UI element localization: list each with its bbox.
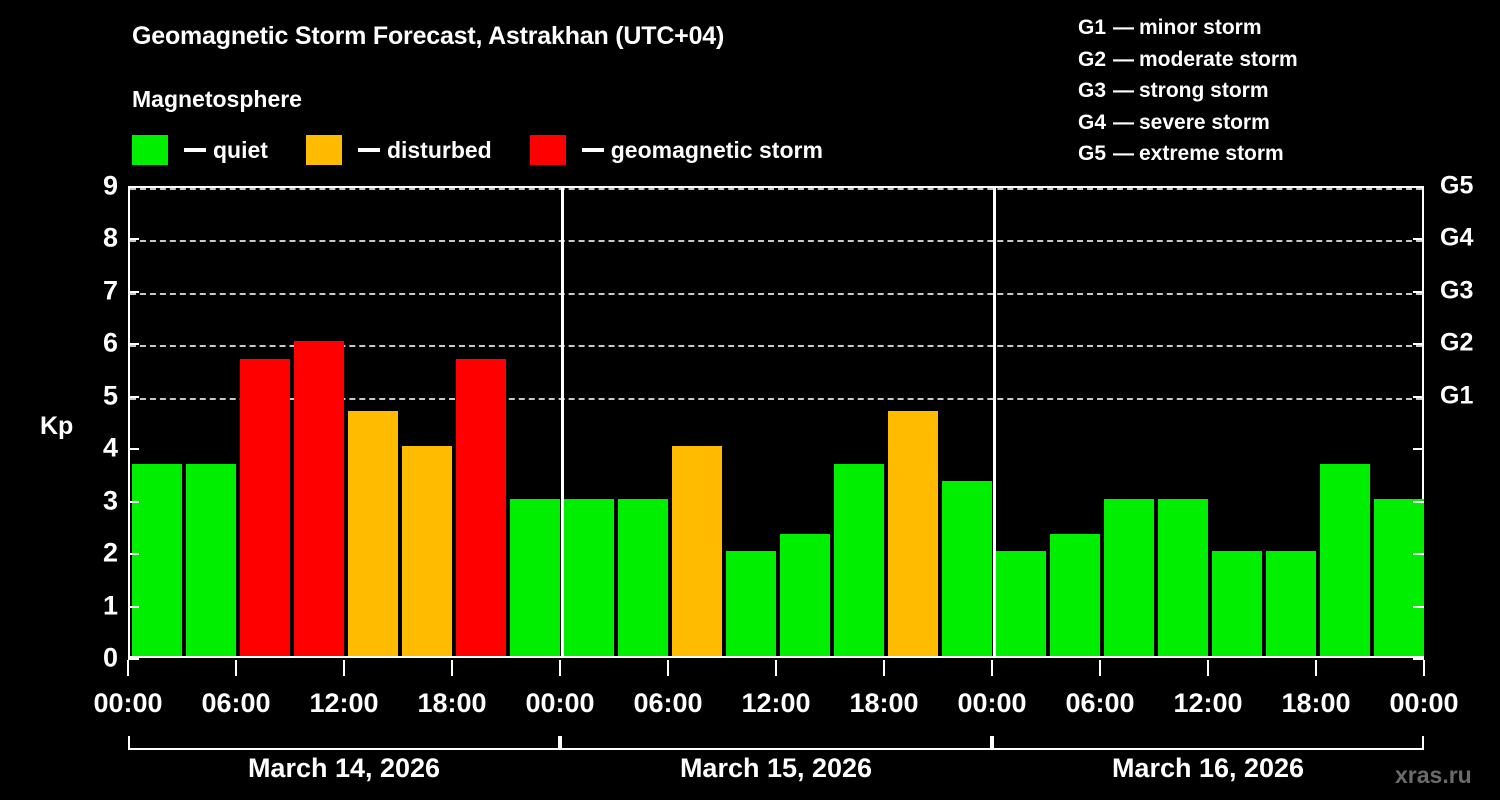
day-separator-2: [993, 188, 996, 656]
kp-bar: [348, 411, 398, 656]
gridline-kp-9: [130, 188, 1422, 190]
y-tick-label-7: 7: [103, 277, 118, 304]
y-tick-mark-5: [128, 396, 139, 398]
y-tick-label-6: 6: [103, 330, 118, 357]
g-axis-labels: G1G2G3G4G5: [1440, 186, 1500, 658]
y-tick-mark-2: [128, 553, 139, 555]
x-tick-mark-5: [667, 660, 669, 676]
x-tick-label-5: 06:00: [633, 688, 702, 719]
x-tick-label-0: 00:00: [93, 688, 162, 719]
g-legend-code: G1: [1078, 12, 1108, 44]
day-bracket-1: [128, 736, 560, 750]
kp-bar: [132, 464, 182, 656]
day-label-3: March 16, 2026: [1112, 753, 1304, 784]
legend-item-disturbed: disturbed: [306, 135, 492, 165]
legend-dash-icon: [184, 148, 206, 152]
gridline-kp-8: [130, 240, 1422, 242]
x-tick-mark-1: [235, 660, 237, 676]
y-tick-mark-right-1: [1413, 606, 1424, 608]
y-tick-label-0: 0: [103, 645, 118, 672]
g-legend-text: severe storm: [1139, 107, 1270, 139]
plot-inner: [130, 188, 1422, 656]
kp-bar: [996, 551, 1046, 656]
y-tick-mark-6: [128, 343, 139, 345]
x-tick-label-1: 06:00: [201, 688, 270, 719]
legend-swatch-icon: [306, 135, 342, 165]
kp-bar: [1212, 551, 1262, 656]
x-tick-label-11: 18:00: [1281, 688, 1350, 719]
g-legend-line-g2: G2—moderate storm: [1078, 44, 1298, 76]
day-bracket-3: [992, 736, 1424, 750]
kp-bar: [564, 499, 614, 656]
watermark: xras.ru: [1395, 762, 1472, 789]
day-bracket-2: [560, 736, 992, 750]
x-tick-mark-6: [775, 660, 777, 676]
g-legend-text: minor storm: [1139, 12, 1262, 44]
g-legend-text: moderate storm: [1139, 44, 1298, 76]
kp-bar: [294, 341, 344, 656]
em-dash-icon: —: [1113, 138, 1134, 170]
y-tick-mark-3: [128, 501, 139, 503]
em-dash-icon: —: [1113, 12, 1134, 44]
y-tick-mark-right-9: [1413, 186, 1424, 188]
x-tick-label-4: 00:00: [525, 688, 594, 719]
x-tick-mark-12: [1423, 660, 1425, 676]
x-tick-mark-8: [991, 660, 993, 676]
g-legend-text: strong storm: [1139, 75, 1269, 107]
y-tick-mark-right-6: [1413, 343, 1424, 345]
x-tick-label-12: 00:00: [1389, 688, 1458, 719]
x-tick-mark-3: [451, 660, 453, 676]
x-tick-mark-11: [1315, 660, 1317, 676]
g-legend-line-g4: G4—severe storm: [1078, 107, 1298, 139]
magnetosphere-legend: quietdisturbedgeomagnetic storm: [132, 133, 861, 167]
kp-bar: [240, 359, 290, 656]
kp-bar: [510, 499, 560, 656]
kp-bar: [1374, 499, 1424, 656]
kp-bar: [456, 359, 506, 656]
y-tick-label-3: 3: [103, 487, 118, 514]
legend-dash-icon: [358, 148, 380, 152]
y-tick-label-4: 4: [103, 435, 118, 462]
kp-bar: [888, 411, 938, 656]
kp-bar: [402, 446, 452, 656]
legend-swatch-icon: [530, 135, 566, 165]
x-tick-label-6: 12:00: [741, 688, 810, 719]
day-label-1: March 14, 2026: [248, 753, 440, 784]
g-legend-code: G3: [1078, 75, 1108, 107]
legend-dash-icon: [582, 148, 604, 152]
g-legend-line-g3: G3—strong storm: [1078, 75, 1298, 107]
x-tick-mark-10: [1207, 660, 1209, 676]
g-legend-line-g1: G1—minor storm: [1078, 12, 1298, 44]
y-tick-label-2: 2: [103, 540, 118, 567]
y-tick-mark-right-2: [1413, 553, 1424, 555]
kp-bar: [186, 464, 236, 656]
em-dash-icon: —: [1113, 75, 1134, 107]
plot-area: [128, 186, 1424, 658]
y-tick-mark-right-5: [1413, 396, 1424, 398]
x-tick-label-8: 00:00: [957, 688, 1026, 719]
kp-bar: [1158, 499, 1208, 656]
y-tick-mark-right-8: [1413, 238, 1424, 240]
kp-bar: [1104, 499, 1154, 656]
g-legend-code: G4: [1078, 107, 1108, 139]
em-dash-icon: —: [1113, 44, 1134, 76]
legend-item-label: quiet: [213, 137, 268, 164]
em-dash-icon: —: [1113, 107, 1134, 139]
y-tick-mark-4: [128, 448, 139, 450]
g-legend-line-g5: G5—extreme storm: [1078, 138, 1298, 170]
y-tick-label-9: 9: [103, 173, 118, 200]
g-tick-label-g1: G1: [1440, 383, 1473, 408]
legend-item-label: geomagnetic storm: [611, 137, 823, 164]
g-tick-label-g3: G3: [1440, 278, 1473, 303]
page-title: Geomagnetic Storm Forecast, Astrakhan (U…: [132, 22, 724, 51]
x-tick-mark-0: [127, 660, 129, 676]
g-tick-label-g2: G2: [1440, 331, 1473, 356]
y-tick-mark-right-7: [1413, 291, 1424, 293]
y-tick-mark-0: [128, 658, 139, 660]
day-label-2: March 15, 2026: [680, 753, 872, 784]
x-tick-label-9: 06:00: [1065, 688, 1134, 719]
y-tick-mark-8: [128, 238, 139, 240]
x-tick-label-2: 12:00: [309, 688, 378, 719]
kp-bar: [942, 481, 992, 656]
legend-item-label: disturbed: [387, 137, 492, 164]
y-tick-label-8: 8: [103, 225, 118, 252]
kp-bar: [780, 534, 830, 656]
kp-bar: [834, 464, 884, 656]
y-tick-mark-right-3: [1413, 501, 1424, 503]
y-tick-mark-9: [128, 186, 139, 188]
x-tick-label-7: 18:00: [849, 688, 918, 719]
kp-bar: [672, 446, 722, 656]
x-tick-mark-4: [559, 660, 561, 676]
g-legend-code: G2: [1078, 44, 1108, 76]
y-tick-label-1: 1: [103, 592, 118, 619]
legend-item-quiet: quiet: [132, 135, 268, 165]
y-axis-title: Kp: [40, 412, 73, 441]
x-tick-mark-2: [343, 660, 345, 676]
gridline-kp-7: [130, 293, 1422, 295]
legend-swatch-icon: [132, 135, 168, 165]
g-legend-code: G5: [1078, 138, 1108, 170]
x-tick-mark-9: [1099, 660, 1101, 676]
y-axis-labels: 0123456789: [78, 186, 118, 658]
g-scale-legend: G1—minor stormG2—moderate stormG3—strong…: [1078, 12, 1298, 170]
y-tick-mark-1: [128, 606, 139, 608]
legend-item-geomagnetic-storm: geomagnetic storm: [530, 135, 823, 165]
g-tick-label-g4: G4: [1440, 226, 1473, 251]
x-tick-label-3: 18:00: [417, 688, 486, 719]
x-tick-mark-7: [883, 660, 885, 676]
kp-bar: [1266, 551, 1316, 656]
kp-bar: [618, 499, 668, 656]
x-tick-label-10: 12:00: [1173, 688, 1242, 719]
y-tick-mark-7: [128, 291, 139, 293]
legend-heading: Magnetosphere: [132, 86, 302, 113]
day-separator-1: [561, 188, 564, 656]
g-tick-label-g5: G5: [1440, 174, 1473, 199]
kp-bar: [1050, 534, 1100, 656]
g-legend-text: extreme storm: [1139, 138, 1284, 170]
kp-bar: [1320, 464, 1370, 656]
y-tick-mark-right-4: [1413, 448, 1424, 450]
y-tick-label-5: 5: [103, 382, 118, 409]
kp-bar: [726, 551, 776, 656]
